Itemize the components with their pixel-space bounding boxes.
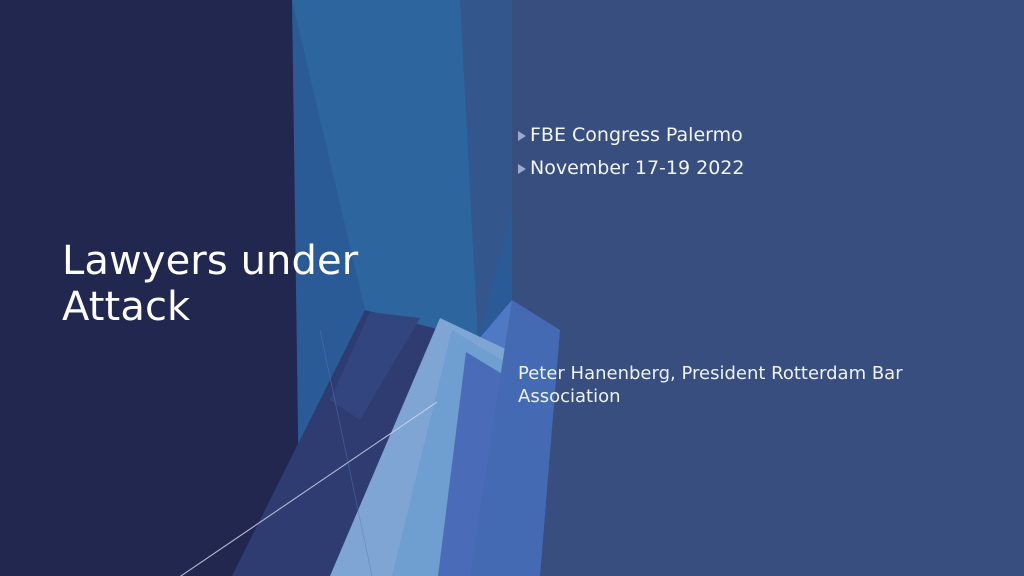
event-name-text: FBE Congress Palermo <box>530 124 743 147</box>
list-item: November 17-19 2022 <box>518 157 938 180</box>
presentation-slide: FBE Congress Palermo November 17-19 2022… <box>0 0 1024 576</box>
event-details-list: FBE Congress Palermo November 17-19 2022 <box>518 124 938 190</box>
byline-block: Peter Hanenberg, President Rotterdam Bar… <box>518 362 918 408</box>
slide-text-layer: FBE Congress Palermo November 17-19 2022… <box>0 0 1024 576</box>
title-block: Lawyers under Attack <box>62 238 362 330</box>
list-item: FBE Congress Palermo <box>518 124 938 147</box>
presenter-byline: Peter Hanenberg, President Rotterdam Bar… <box>518 362 918 408</box>
event-date-text: November 17-19 2022 <box>530 157 744 180</box>
triangle-right-icon <box>518 131 526 141</box>
triangle-right-icon <box>518 164 526 174</box>
page-title: Lawyers under Attack <box>62 238 362 330</box>
